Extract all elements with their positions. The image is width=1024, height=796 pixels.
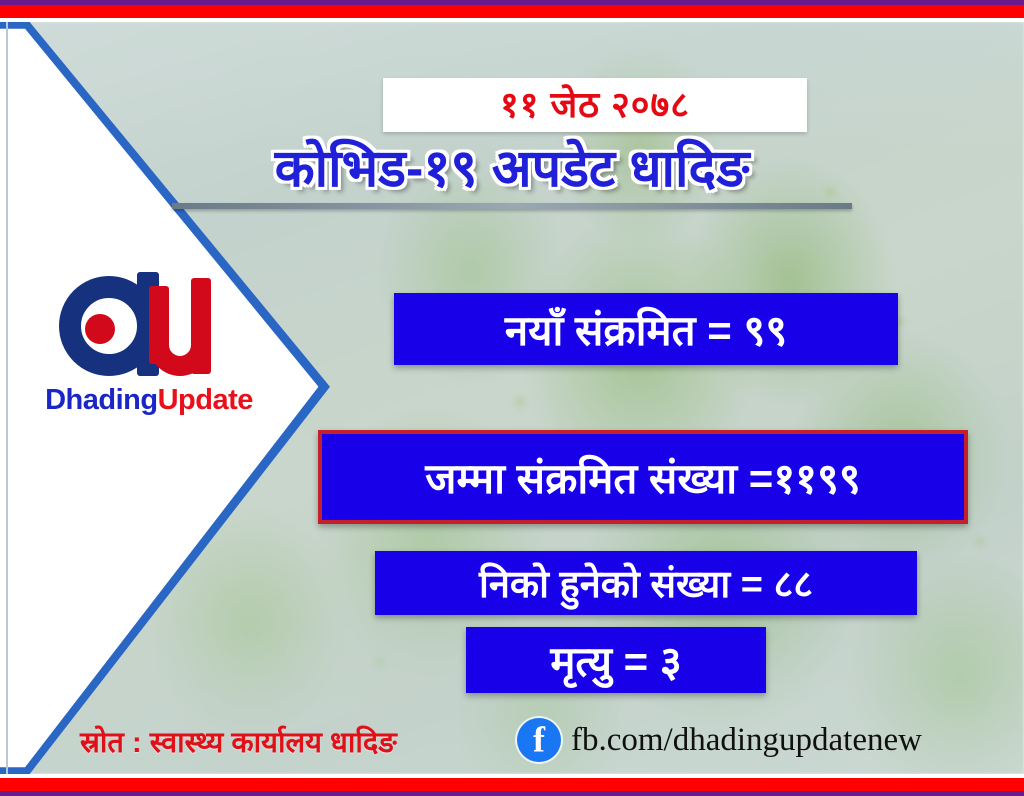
date-text: ११ जेठ २०७८ bbox=[500, 87, 690, 123]
stat-deaths-text: मृत्यु = ३ bbox=[550, 632, 681, 689]
stat-recovered-text: निको हुनेको संख्या = ८८ bbox=[479, 557, 813, 609]
logo-monogram-du bbox=[49, 272, 249, 380]
top-white-gap bbox=[0, 18, 1024, 22]
wedge-left-edge-line bbox=[6, 22, 8, 774]
page-title-text: कोभिड-१९ अपडेट धादिङ bbox=[275, 142, 749, 197]
facebook-url-text[interactable]: fb.com/dhadingupdatenew bbox=[571, 722, 922, 759]
stat-total-cases: जम्मा संक्रमित संख्या =११९९ bbox=[318, 430, 968, 524]
bottom-border-bar bbox=[0, 774, 1024, 796]
top-red-stripe bbox=[0, 5, 1024, 18]
source-credit: स्रोत : स्वास्थ्य कार्यालय धादिङ bbox=[80, 722, 397, 761]
logo-wordmark-update: Update bbox=[158, 384, 253, 416]
stat-new-cases: नयाँ संक्रमित = ९९ bbox=[394, 293, 898, 365]
top-border-bar bbox=[0, 0, 1024, 22]
date-banner: ११ जेठ २०७८ bbox=[383, 78, 807, 132]
facebook-handle[interactable]: fb.com/dhadingupdatenew bbox=[517, 718, 922, 762]
dhading-update-logo: DhadingUpdate bbox=[24, 272, 274, 417]
logo-red-dot bbox=[85, 314, 115, 344]
bottom-purple-stripe bbox=[0, 791, 1024, 796]
logo-wordmark-dhading: Dhading bbox=[45, 384, 158, 416]
logo-wordmark: DhadingUpdate bbox=[24, 384, 274, 417]
facebook-icon[interactable] bbox=[517, 718, 561, 762]
bottom-red-stripe bbox=[0, 778, 1024, 791]
stat-new-cases-text: नयाँ संक्रमित = ९९ bbox=[505, 301, 787, 358]
title-underline-rule bbox=[172, 203, 852, 209]
logo-letter-u-right-stem bbox=[191, 278, 211, 374]
page-title: कोभिड-१९ अपडेट धादिङ bbox=[0, 142, 1024, 209]
stat-deaths: मृत्यु = ३ bbox=[466, 627, 766, 693]
stat-recovered: निको हुनेको संख्या = ८८ bbox=[375, 551, 917, 615]
stat-total-cases-text: जम्मा संक्रमित संख्या =११९९ bbox=[425, 449, 860, 506]
covid-update-poster: DhadingUpdate ११ जेठ २०७८ कोभिड-१९ अपडेट… bbox=[0, 0, 1024, 796]
